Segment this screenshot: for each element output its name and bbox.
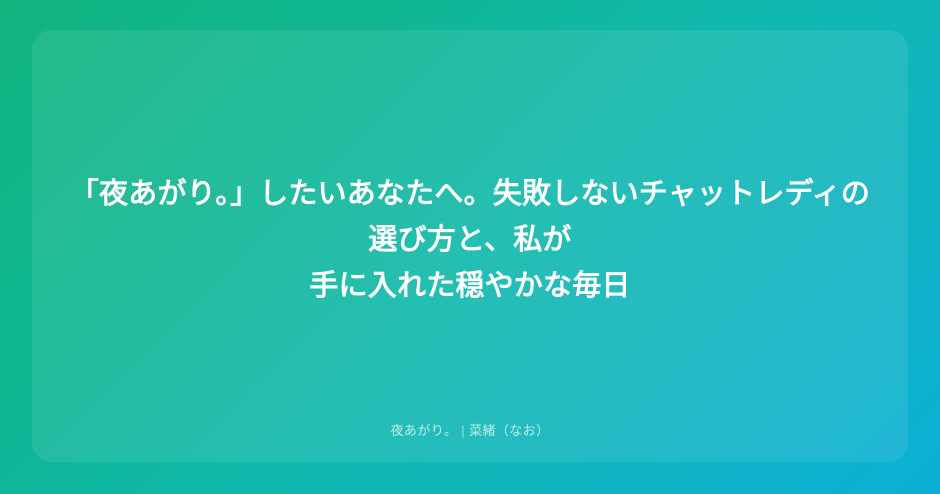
page-title: 「夜あがり。」したいあなたへ。失敗しないチャットレディの 選び方と、私が 手に入… [32,171,908,309]
ogp-card-canvas: 「夜あがり。」したいあなたへ。失敗しないチャットレディの 選び方と、私が 手に入… [0,0,940,494]
byline-site-name: 夜あがり。 [391,423,458,438]
byline: 夜あがり。|菜緒（なお） [32,422,908,440]
inner-card-panel: 「夜あがり。」したいあなたへ。失敗しないチャットレディの 選び方と、私が 手に入… [32,30,908,462]
byline-separator: | [457,423,469,438]
byline-author: 菜緒（なお） [469,423,549,438]
